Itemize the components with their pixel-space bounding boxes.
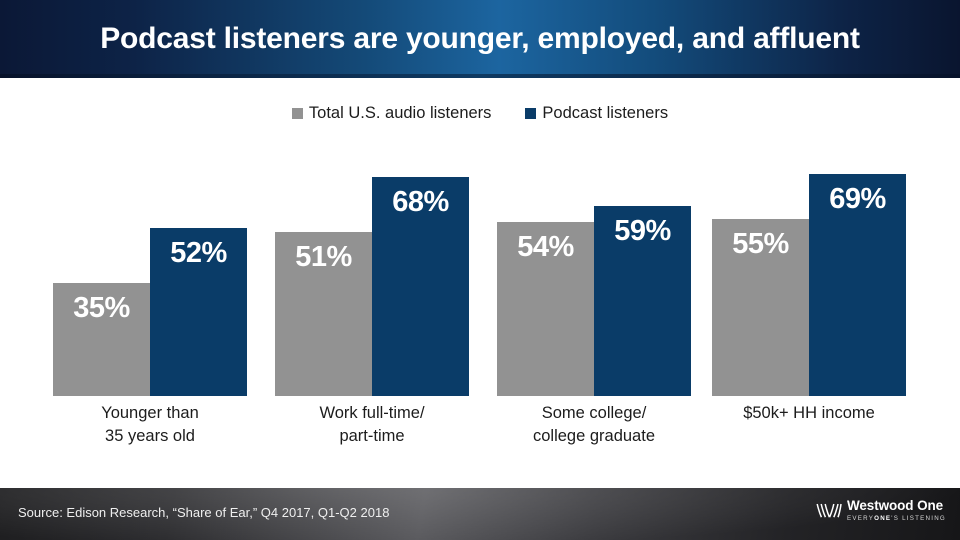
legend-item-label: Total U.S. audio listeners	[309, 104, 492, 123]
legend-item-label: Podcast listeners	[542, 104, 668, 123]
bar-total-audio[interactable]: 51%	[275, 232, 372, 396]
bar-value-label: 35%	[53, 292, 150, 325]
bar-value-label: 69%	[809, 183, 906, 216]
bar-value-label: 55%	[712, 228, 809, 261]
x-axis-label-younger-than-35: Younger than 35 years old	[53, 402, 247, 448]
bar-value-label: 51%	[275, 241, 372, 274]
bar-podcast[interactable]: 68%	[372, 177, 469, 396]
x-axis-label-50k-hh-income: $50k+ HH income	[712, 402, 906, 425]
bar-value-label: 68%	[372, 186, 469, 219]
slide: Podcast listeners are younger, employed,…	[0, 0, 960, 540]
page-title: Podcast listeners are younger, employed,…	[0, 0, 960, 78]
bar-group-50k-hh-income: 55% 69%	[712, 150, 906, 396]
footer-bar: Source: Edison Research, “Share of Ear,”…	[0, 488, 960, 540]
bar-value-label: 54%	[497, 231, 594, 264]
x-axis-label-work-full-or-part-time: Work full-time/ part-time	[275, 402, 469, 448]
x-axis-label-line: Some college/	[497, 402, 691, 425]
source-citation: Source: Edison Research, “Share of Ear,”…	[18, 505, 389, 520]
logo-tagline-pre: EVERY	[847, 515, 874, 522]
square-swatch-icon	[292, 108, 303, 119]
x-axis-label-line: Work full-time/	[275, 402, 469, 425]
bar-total-audio[interactable]: 35%	[53, 283, 150, 396]
bar-value-label: 52%	[150, 237, 247, 270]
bar-podcast[interactable]: 69%	[809, 174, 906, 396]
westwood-one-wave-mark-icon	[816, 502, 842, 519]
x-axis-label-some-college: Some college/ college graduate	[497, 402, 691, 448]
bar-podcast[interactable]: 52%	[150, 228, 247, 396]
chart-legend: Total U.S. audio listeners Podcast liste…	[0, 104, 960, 123]
logo-tagline: EVERYONE'S LISTENING	[847, 516, 946, 522]
bar-group-younger-than-35: 35% 52%	[53, 150, 247, 396]
bar-value-label: 59%	[594, 215, 691, 248]
x-axis-label-line: part-time	[275, 425, 469, 448]
x-axis-label-line: 35 years old	[53, 425, 247, 448]
x-axis-label-line: college graduate	[497, 425, 691, 448]
bar-chart-plot-area: 35% 52% 51% 68% 54% 59% 55%	[0, 150, 960, 396]
logo-tagline-mid: ONE	[874, 515, 891, 522]
x-axis-label-line: $50k+ HH income	[712, 402, 906, 425]
bar-total-audio[interactable]: 55%	[712, 219, 809, 396]
logo-brand-name: Westwood One	[847, 499, 946, 513]
square-swatch-icon	[525, 108, 536, 119]
bar-group-work-full-or-part-time: 51% 68%	[275, 150, 469, 396]
x-axis-label-line: Younger than	[53, 402, 247, 425]
x-axis-labels: Younger than 35 years old Work full-time…	[0, 402, 960, 462]
westwood-one-logo: Westwood One EVERYONE'S LISTENING	[816, 499, 946, 522]
legend-item-podcast[interactable]: Podcast listeners	[525, 104, 668, 123]
bar-total-audio[interactable]: 54%	[497, 222, 594, 396]
logo-text-block: Westwood One EVERYONE'S LISTENING	[847, 499, 946, 522]
logo-tagline-post: 'S LISTENING	[891, 515, 946, 522]
title-banner: Podcast listeners are younger, employed,…	[0, 0, 960, 78]
legend-item-total-audio[interactable]: Total U.S. audio listeners	[292, 104, 492, 123]
bar-podcast[interactable]: 59%	[594, 206, 691, 396]
bar-group-some-college: 54% 59%	[497, 150, 691, 396]
